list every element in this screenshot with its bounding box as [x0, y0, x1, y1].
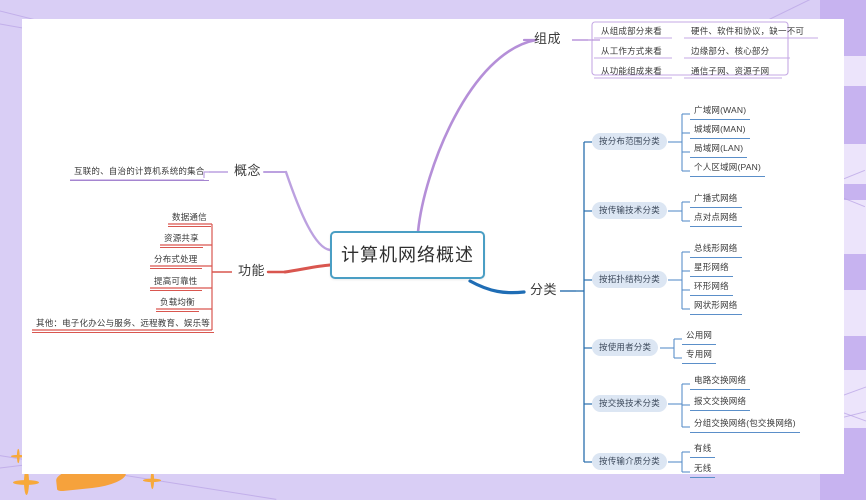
- zucheng-group-label-0[interactable]: 从组成部分来看: [597, 25, 666, 40]
- fenlei-2-item-2[interactable]: 环形网络: [690, 280, 733, 296]
- fenlei-2-item-0[interactable]: 总线形网络: [690, 242, 742, 258]
- fenlei-2-item-1[interactable]: 星形网络: [690, 261, 733, 277]
- zucheng-group-label-2[interactable]: 从功能组成来看: [597, 65, 666, 80]
- leaf-gongneng-3[interactable]: 提高可靠性: [150, 275, 202, 291]
- leaf-gongneng-0[interactable]: 数据通信: [168, 211, 211, 227]
- zucheng-group-detail-0[interactable]: 硬件、软件和协议，缺一不可: [687, 25, 808, 40]
- mindmap-stage: 计算机网络概述 概念 互联的、自治的计算机系统的集合 功能 数据通信 资源共享 …: [0, 0, 866, 500]
- fenlei-4-item-2[interactable]: 分组交换网络(包交换网络): [690, 417, 800, 433]
- fenlei-2-item-3[interactable]: 网状形网络: [690, 299, 742, 315]
- fenlei-4-item-0[interactable]: 电路交换网络: [690, 374, 750, 390]
- fenlei-3-item-1[interactable]: 专用网: [682, 348, 716, 364]
- fenlei-0-item-2[interactable]: 局域网(LAN): [690, 142, 747, 158]
- branch-label-gongneng[interactable]: 功能: [238, 264, 265, 279]
- branch-label-zucheng[interactable]: 组成: [534, 32, 561, 47]
- fenlei-5-item-0[interactable]: 有线: [690, 442, 715, 458]
- fenlei-3-item-0[interactable]: 公用网: [682, 329, 716, 345]
- fenlei-0-item-1[interactable]: 城域网(MAN): [690, 123, 750, 139]
- leaf-gongneng-2[interactable]: 分布式处理: [150, 253, 202, 269]
- center-node[interactable]: 计算机网络概述: [330, 231, 485, 279]
- branch-label-gainian[interactable]: 概念: [234, 164, 261, 179]
- fenlei-group-5[interactable]: 按传输介质分类: [592, 453, 667, 470]
- fenlei-1-item-1[interactable]: 点对点网络: [690, 211, 742, 227]
- fenlei-5-item-1[interactable]: 无线: [690, 462, 715, 478]
- fenlei-group-2[interactable]: 按拓扑结构分类: [592, 271, 667, 288]
- fenlei-group-1[interactable]: 按传输技术分类: [592, 202, 667, 219]
- fenlei-0-item-3[interactable]: 个人区域网(PAN): [690, 161, 765, 177]
- fenlei-0-item-0[interactable]: 广域网(WAN): [690, 104, 750, 120]
- fenlei-group-4[interactable]: 按交换技术分类: [592, 395, 667, 412]
- branch-label-fenlei[interactable]: 分类: [530, 283, 557, 298]
- leaf-gongneng-1[interactable]: 资源共享: [160, 232, 203, 248]
- fenlei-group-0[interactable]: 按分布范围分类: [592, 133, 667, 150]
- zucheng-group-detail-2[interactable]: 通信子网、资源子网: [687, 65, 773, 80]
- fenlei-4-item-1[interactable]: 报文交换网络: [690, 395, 750, 411]
- fenlei-group-3[interactable]: 按使用者分类: [592, 339, 658, 356]
- leaf-gongneng-5[interactable]: 其他：电子化办公与服务、远程教育、娱乐等: [32, 317, 214, 333]
- zucheng-group-detail-1[interactable]: 边缘部分、核心部分: [687, 45, 773, 60]
- fenlei-1-item-0[interactable]: 广播式网络: [690, 192, 742, 208]
- zucheng-group-label-1[interactable]: 从工作方式来看: [597, 45, 666, 60]
- leaf-gongneng-4[interactable]: 负载均衡: [156, 296, 199, 312]
- leaf-gainian-0[interactable]: 互联的、自治的计算机系统的集合: [70, 165, 209, 181]
